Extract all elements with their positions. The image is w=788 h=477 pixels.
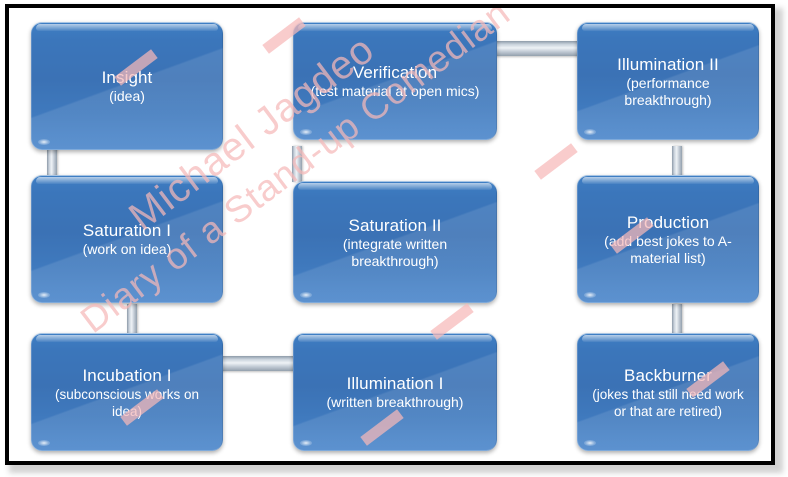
node-backburner[interactable]: Backburner (jokes that still need work o… (577, 333, 759, 451)
node-subtitle: (work on idea) (83, 241, 172, 258)
node-title: Verification (353, 62, 437, 83)
node-subtitle: (subconscious works on idea) (39, 386, 215, 420)
node-title: Illumination I (347, 373, 444, 394)
diagram-canvas: Insight (idea) Verification (test materi… (0, 0, 788, 477)
node-illumination-1[interactable]: Illumination I (written breakthrough) (293, 333, 497, 451)
node-title: Insight (102, 67, 153, 88)
node-production[interactable]: Production (add best jokes to A-material… (577, 175, 759, 303)
node-subtitle: (idea) (109, 88, 145, 105)
node-subtitle: (written breakthrough) (327, 394, 464, 411)
node-title: Production (627, 212, 709, 233)
node-illumination-2[interactable]: Illumination II (performance breakthroug… (577, 22, 759, 140)
node-insight[interactable]: Insight (idea) (31, 22, 223, 150)
node-subtitle: (performance breakthrough) (585, 75, 751, 109)
node-title: Saturation I (83, 220, 171, 241)
node-title: Backburner (624, 365, 712, 386)
node-saturation-2[interactable]: Saturation II (integrate written breakth… (293, 181, 497, 303)
node-incubation-1[interactable]: Incubation I (subconscious works on idea… (31, 333, 223, 451)
connector-saturation2-verification (292, 146, 302, 182)
node-subtitle: (add best jokes to A-material list) (585, 233, 751, 267)
node-title: Illumination II (617, 54, 719, 75)
node-saturation-1[interactable]: Saturation I (work on idea) (31, 175, 223, 303)
node-subtitle: (jokes that still need work or that are … (585, 386, 751, 420)
node-title: Incubation I (82, 365, 171, 386)
node-verification[interactable]: Verification (test material at open mics… (293, 22, 497, 140)
node-subtitle: (integrate written breakthrough) (301, 236, 489, 270)
node-title: Saturation II (349, 215, 442, 236)
node-subtitle: (test material at open mics) (311, 83, 480, 100)
watermark-dash (534, 143, 577, 179)
diagram-frame: Insight (idea) Verification (test materi… (5, 4, 775, 465)
